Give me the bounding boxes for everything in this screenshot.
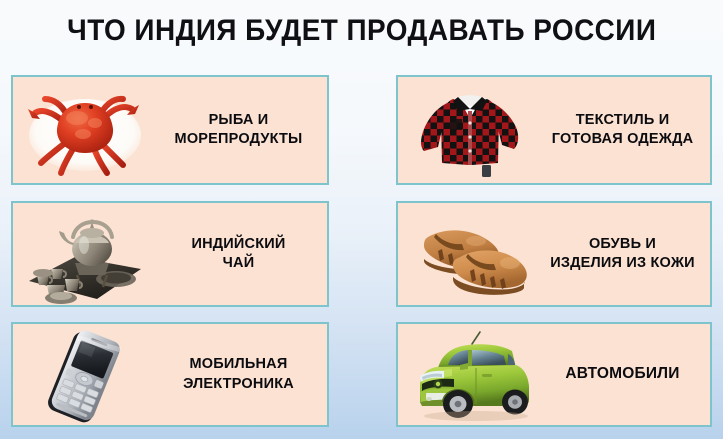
card-automobiles[interactable]: АВТОМОБИЛИ [396, 322, 712, 427]
card-label-automobiles: АВТОМОБИЛИ [543, 364, 710, 385]
plaid-shirt-icon [398, 77, 543, 183]
card-label-footwear-leather: ОБУВЬ И ИЗДЕЛИЯ ИЗ КОЖИ [543, 235, 710, 274]
card-label-textile-apparel: ТЕКСТИЛЬ И ГОТОВАЯ ОДЕЖДА [543, 111, 710, 150]
card-textile-apparel[interactable]: ТЕКСТИЛЬ И ГОТОВАЯ ОДЕЖДА [396, 75, 712, 185]
card-indian-tea[interactable]: ИНДИЙСКИЙ ЧАЙ [11, 201, 329, 307]
card-label-mobile-electronics: МОБИЛЬНАЯ ЭЛЕКТРОНИКА [158, 355, 327, 394]
card-footwear-leather[interactable]: ОБУВЬ И ИЗДЕЛИЯ ИЗ КОЖИ [396, 201, 712, 307]
page-header: ЧТО ИНДИЯ БУДЕТ ПРОДАВАТЬ РОССИИ [0, 0, 723, 62]
crab-on-plate-icon [13, 77, 158, 183]
green-hatchback-car-icon [398, 324, 543, 425]
card-label-fish-seafood: РЫБА И МОРЕПРОДУКТЫ [158, 111, 327, 150]
page-title: ЧТО ИНДИЯ БУДЕТ ПРОДАВАТЬ РОССИИ [67, 14, 656, 48]
card-mobile-electronics[interactable]: МОБИЛЬНАЯ ЭЛЕКТРОНИКА [11, 322, 329, 427]
card-label-indian-tea: ИНДИЙСКИЙ ЧАЙ [158, 235, 327, 274]
card-fish-seafood[interactable]: РЫБА И МОРЕПРОДУКТЫ [11, 75, 329, 185]
mobile-phone-icon [13, 324, 158, 425]
silver-tea-set-icon [13, 203, 158, 305]
product-card-grid: РЫБА И МОРЕПРОДУКТЫ [0, 62, 723, 439]
leather-sandals-icon [398, 203, 543, 305]
